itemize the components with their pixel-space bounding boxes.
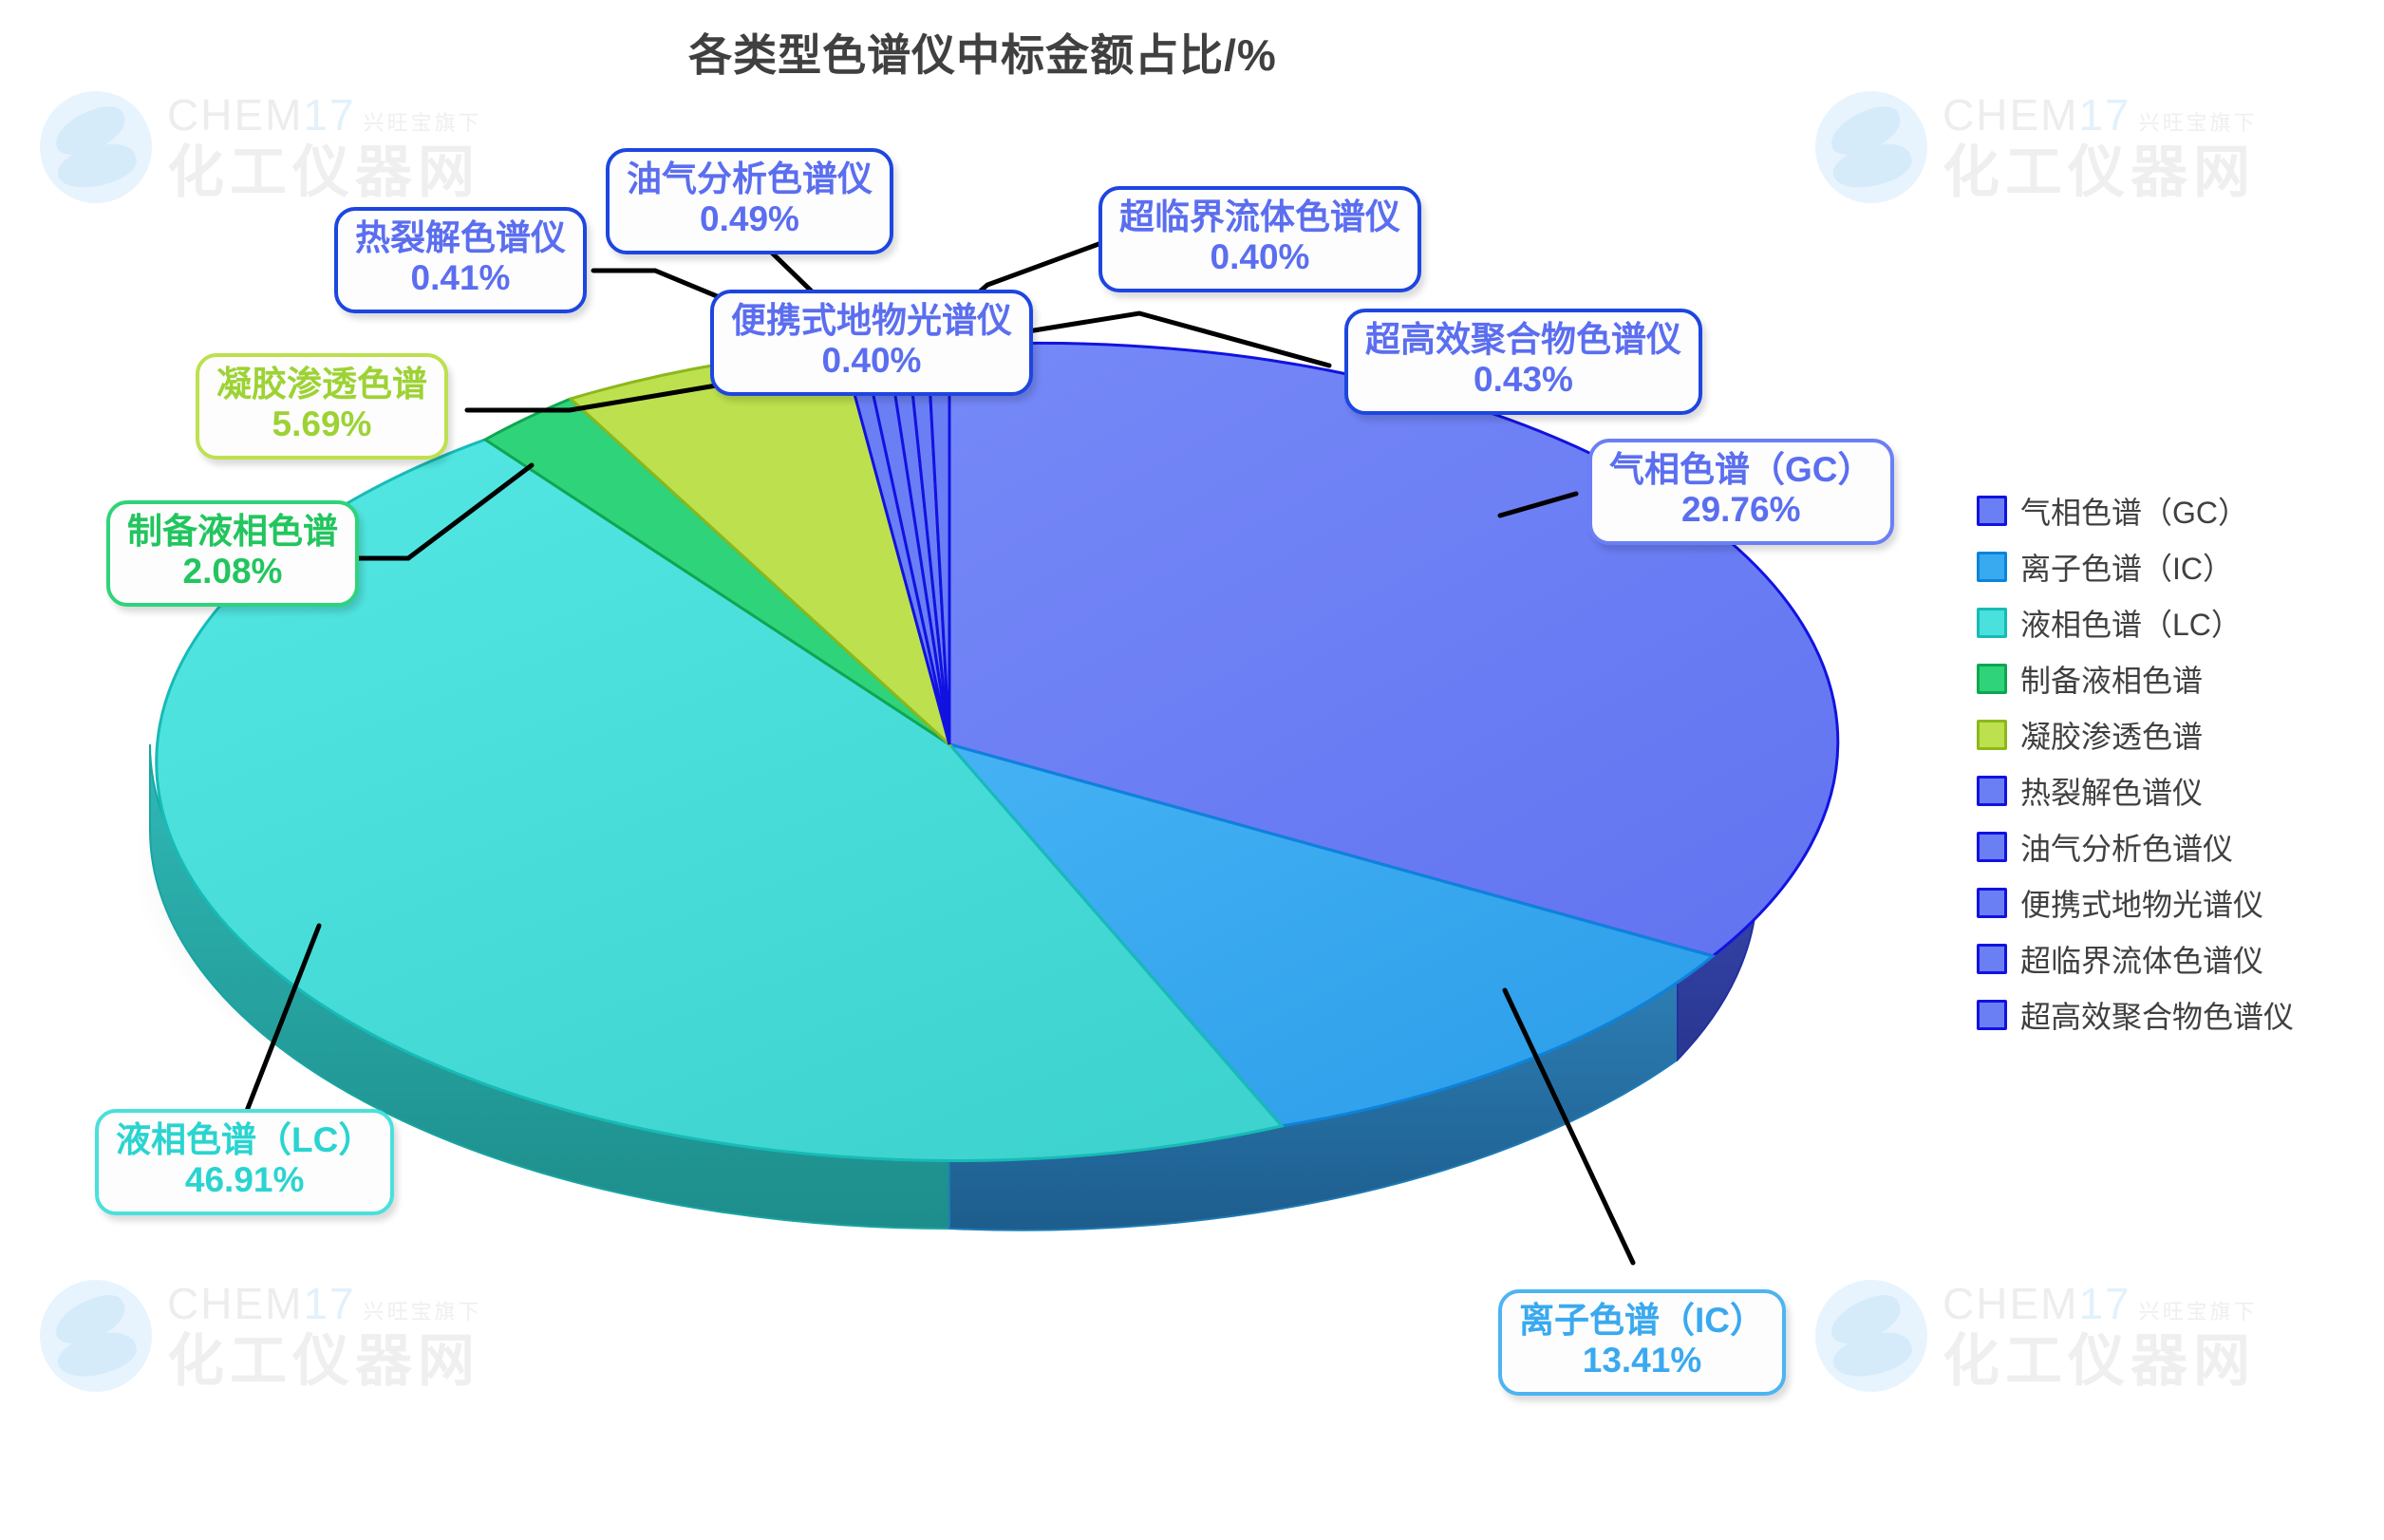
legend-swatch-icon <box>1977 776 2007 806</box>
legend-item-label: 便携式地物光谱仪 <box>2020 881 2263 925</box>
legend-item-label: 超临界流体色谱仪 <box>2020 937 2263 981</box>
legend-swatch-icon <box>1977 1000 2007 1030</box>
chart-canvas: CHEM17兴旺宝旗下 化工仪器网 CHEM17兴旺宝旗下 化工仪器网 CHEM… <box>0 0 2384 1540</box>
callout-label: 便携式地物光谱仪 <box>731 301 1012 341</box>
callout-label: 超临界流体色谱仪 <box>1119 197 1400 237</box>
legend-item-prep-lc[interactable]: 制备液相色谱 <box>1977 650 2356 706</box>
legend-item-label: 超高效聚合物色谱仪 <box>2020 993 2294 1037</box>
legend-swatch-icon <box>1977 496 2007 526</box>
callout-label: 气相色谱（GC） <box>1609 450 1873 490</box>
legend-item-label: 热裂解色谱仪 <box>2020 769 2203 813</box>
legend-item-gc[interactable]: 气相色谱（GC） <box>1977 482 2356 538</box>
callout-value: 5.69% <box>216 404 427 444</box>
callout-value: 46.91% <box>116 1160 373 1200</box>
callout-oilgas[interactable]: 油气分析色谱仪 0.49% <box>606 148 893 254</box>
callout-portable[interactable]: 便携式地物光谱仪 0.40% <box>710 290 1033 396</box>
callout-uhp-polymer[interactable]: 超高效聚合物色谱仪 0.43% <box>1344 309 1702 415</box>
callout-value: 0.40% <box>731 341 1012 381</box>
callout-value: 2.08% <box>127 552 338 592</box>
callout-pyrolysis[interactable]: 热裂解色谱仪 0.41% <box>334 207 587 313</box>
legend-item-uhp-polymer[interactable]: 超高效聚合物色谱仪 <box>1977 986 2356 1042</box>
legend-swatch-icon <box>1977 832 2007 862</box>
legend-item-label: 气相色谱（GC） <box>2020 489 2248 533</box>
legend-swatch-icon <box>1977 944 2007 974</box>
legend-item-label: 制备液相色谱 <box>2020 657 2203 701</box>
legend-item-ic[interactable]: 离子色谱（IC） <box>1977 538 2356 594</box>
callout-gpc[interactable]: 凝胶渗透色谱 5.69% <box>196 353 448 460</box>
legend-item-gpc[interactable]: 凝胶渗透色谱 <box>1977 706 2356 762</box>
callout-label: 热裂解色谱仪 <box>355 218 566 258</box>
callout-value: 0.43% <box>1365 360 1681 400</box>
callout-prep-lc[interactable]: 制备液相色谱 2.08% <box>106 500 359 607</box>
legend-item-label: 液相色谱（LC） <box>2020 601 2242 645</box>
legend-item-supercritical[interactable]: 超临界流体色谱仪 <box>1977 930 2356 986</box>
callout-label: 离子色谱（IC） <box>1519 1301 1765 1341</box>
callout-value: 0.40% <box>1119 237 1400 277</box>
legend-item-oilgas[interactable]: 油气分析色谱仪 <box>1977 818 2356 874</box>
legend-swatch-icon <box>1977 888 2007 918</box>
legend-item-portable[interactable]: 便携式地物光谱仪 <box>1977 874 2356 930</box>
legend-item-pyrolysis[interactable]: 热裂解色谱仪 <box>1977 762 2356 818</box>
legend-swatch-icon <box>1977 664 2007 694</box>
legend-swatch-icon <box>1977 552 2007 582</box>
legend-swatch-icon <box>1977 720 2007 750</box>
legend-item-label: 离子色谱（IC） <box>2020 545 2233 589</box>
callout-ic[interactable]: 离子色谱（IC） 13.41% <box>1498 1289 1786 1396</box>
callout-label: 凝胶渗透色谱 <box>216 365 427 404</box>
callout-lc[interactable]: 液相色谱（LC） 46.91% <box>95 1109 394 1215</box>
callout-gc[interactable]: 气相色谱（GC） 29.76% <box>1588 439 1894 545</box>
legend: 气相色谱（GC） 离子色谱（IC） 液相色谱（LC） 制备液相色谱 凝胶渗透色谱… <box>1977 482 2356 1042</box>
legend-item-label: 凝胶渗透色谱 <box>2020 713 2203 757</box>
legend-item-label: 油气分析色谱仪 <box>2020 825 2233 869</box>
callout-value: 13.41% <box>1519 1341 1765 1380</box>
callout-value: 29.76% <box>1609 490 1873 530</box>
callout-value: 0.41% <box>355 258 566 298</box>
callout-value: 0.49% <box>627 199 873 239</box>
callout-label: 油气分析色谱仪 <box>627 160 873 199</box>
callout-label: 制备液相色谱 <box>127 512 338 552</box>
callout-label: 液相色谱（LC） <box>116 1120 373 1160</box>
legend-item-lc[interactable]: 液相色谱（LC） <box>1977 594 2356 650</box>
callout-supercritical[interactable]: 超临界流体色谱仪 0.40% <box>1098 186 1421 292</box>
legend-swatch-icon <box>1977 608 2007 638</box>
callout-label: 超高效聚合物色谱仪 <box>1365 320 1681 360</box>
